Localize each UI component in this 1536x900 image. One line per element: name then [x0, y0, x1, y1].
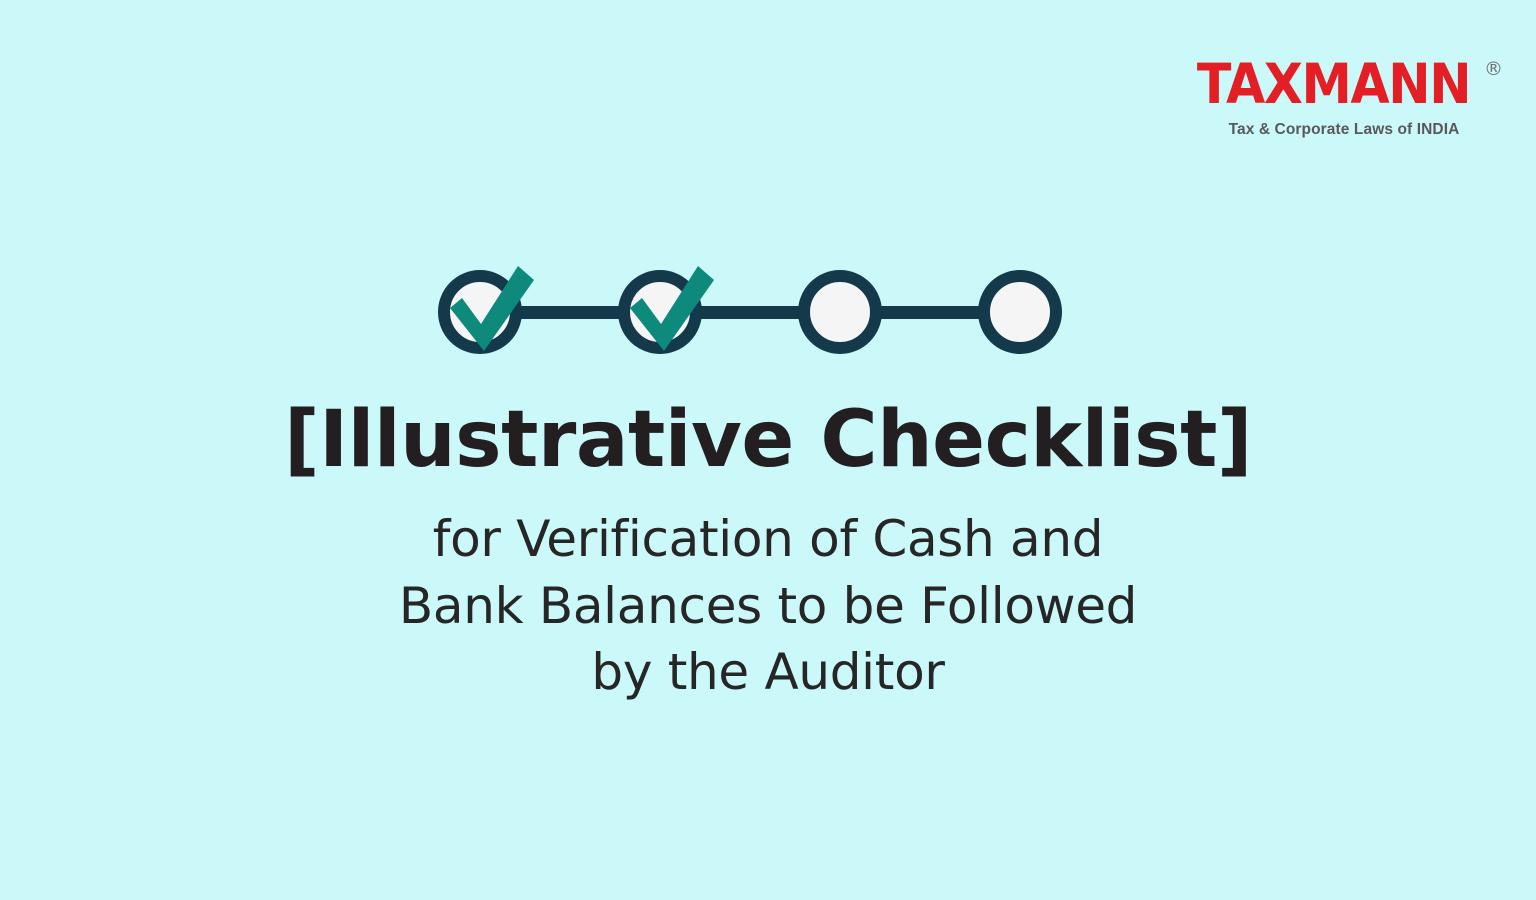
tracker-step-1[interactable]: [444, 266, 534, 351]
checklist-progress-tracker: [0, 248, 1536, 378]
slide-canvas: TAXMANN ® Tax & Corporate Laws of INDIA: [0, 0, 1536, 900]
empty-circle-icon: [804, 276, 876, 348]
logo-wordmark: TAXMANN: [1197, 58, 1470, 111]
connector-2-3: [700, 306, 810, 319]
subtitle-line-1: for Verification of Cash and: [0, 506, 1536, 573]
subtitle-line-2: Bank Balances to be Followed: [0, 573, 1536, 640]
taxmann-logo: TAXMANN ® Tax & Corporate Laws of INDIA: [1214, 58, 1474, 137]
tracker-step-2[interactable]: [624, 266, 714, 351]
connector-1-2: [520, 306, 630, 319]
empty-circle-icon: [984, 276, 1056, 348]
tracker-step-3[interactable]: [804, 276, 876, 348]
page-subtitle: for Verification of Cash and Bank Balanc…: [0, 506, 1536, 706]
logo-tagline: Tax & Corporate Laws of INDIA: [1214, 122, 1474, 138]
subtitle-line-3: by the Auditor: [0, 639, 1536, 706]
connector-3-4: [880, 306, 990, 319]
tracker-connectors: [520, 306, 990, 319]
tracker-step-4[interactable]: [984, 276, 1056, 348]
page-title: [Illustrative Checklist]: [0, 398, 1536, 482]
registered-trademark-icon: ®: [1484, 60, 1503, 79]
logo-wordmark-row: TAXMANN ®: [1214, 58, 1474, 111]
headline-block: [Illustrative Checklist] for Verificatio…: [0, 398, 1536, 706]
tracker-graphic: [428, 248, 1108, 378]
